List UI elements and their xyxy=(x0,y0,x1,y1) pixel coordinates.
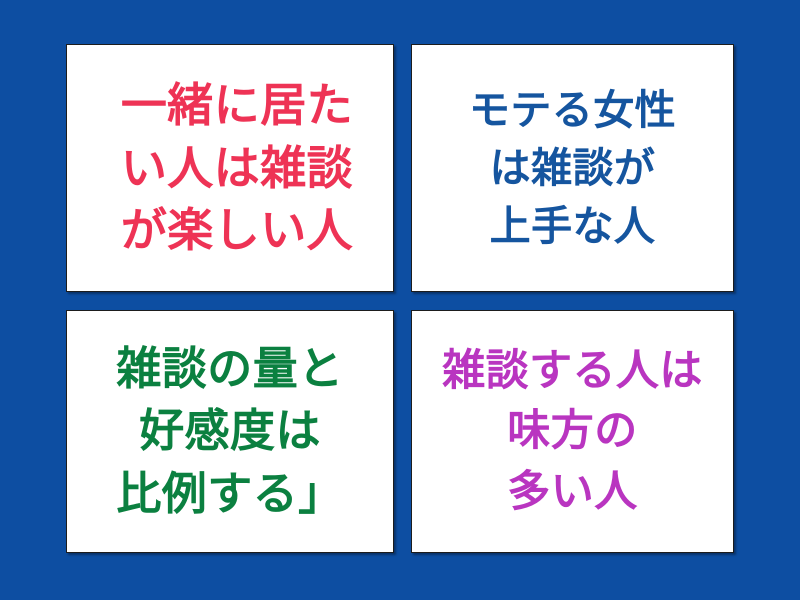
card-line: い人は雑談 xyxy=(74,137,400,200)
card-line: 一緒に居た xyxy=(74,74,400,137)
card-line: 雑談の量と xyxy=(67,338,393,400)
quote-card-bottom-left[interactable]: 雑談の量と 好感度は 比例する」 xyxy=(66,310,394,553)
card-line: モテる女性 xyxy=(412,81,733,139)
card-line: 味方の xyxy=(412,401,733,461)
card-text-top-right: モテる女性 は雑談が 上手な人 xyxy=(412,81,733,256)
card-line: 比例する」 xyxy=(67,463,393,525)
card-line: 上手な人 xyxy=(412,197,733,255)
card-text-top-left: 一緒に居た い人は雑談 が楽しい人 xyxy=(60,74,400,262)
card-line: 好感度は xyxy=(67,400,393,462)
quote-card-top-left[interactable]: 一緒に居た い人は雑談 が楽しい人 xyxy=(66,44,394,292)
card-line: は雑談が xyxy=(412,139,733,197)
slide-canvas: 一緒に居た い人は雑談 が楽しい人 モテる女性 は雑談が 上手な人 雑談の量と … xyxy=(0,0,800,600)
quote-card-bottom-right[interactable]: 雑談する人は 味方の 多い人 xyxy=(411,310,734,553)
card-text-bottom-right: 雑談する人は 味方の 多い人 xyxy=(412,341,733,522)
card-line: 多い人 xyxy=(412,462,733,522)
quote-card-top-right[interactable]: モテる女性 は雑談が 上手な人 xyxy=(411,44,734,292)
card-line: が楽しい人 xyxy=(74,199,400,262)
card-text-bottom-left: 雑談の量と 好感度は 比例する」 xyxy=(67,338,393,524)
card-line: 雑談する人は xyxy=(412,341,733,401)
